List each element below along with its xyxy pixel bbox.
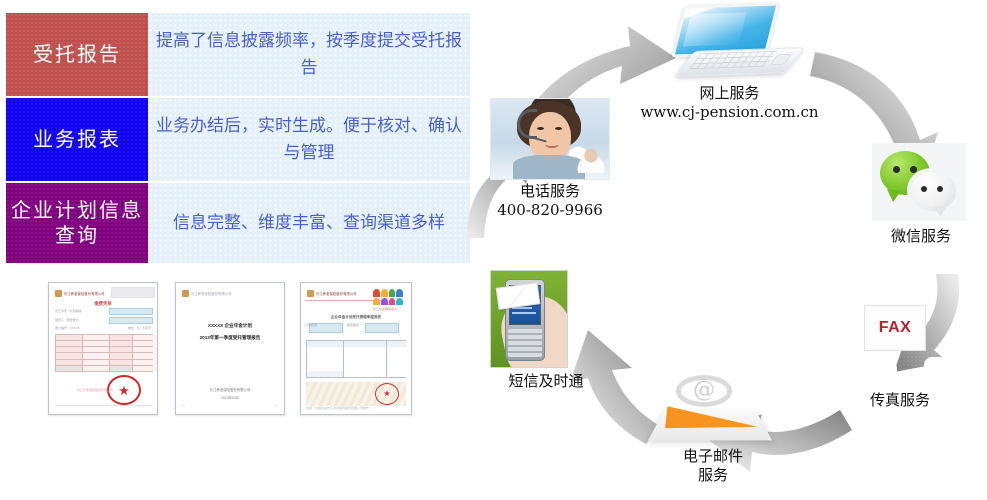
node-fax-service[interactable]: FAX 传真服务 bbox=[848, 305, 968, 405]
node-caption-sms-service: 短信及时通 bbox=[508, 372, 583, 391]
document-header: 长江养老保险股份有限公司 bbox=[182, 289, 278, 298]
agent-smile bbox=[545, 141, 559, 148]
node-caption-phone-service: 电话服务 400-820-9966 bbox=[497, 182, 603, 220]
document-field-box bbox=[109, 317, 153, 324]
wechat-logo-icon bbox=[872, 143, 966, 221]
document-title: 缴费凭单 bbox=[49, 301, 157, 307]
node-online-service[interactable]: 网上服务 www.cj-pension.com.cn bbox=[662, 2, 797, 80]
company-logo-icon bbox=[182, 290, 189, 297]
document-title: 企业年金计划受托管理季度报表 bbox=[301, 315, 411, 320]
wechat-eye-icon bbox=[937, 186, 943, 192]
node-caption-wechat-service: 微信服务 bbox=[891, 227, 951, 246]
company-logo-icon bbox=[55, 290, 62, 297]
official-seal-icon: ★ bbox=[375, 383, 399, 405]
agent-background-person bbox=[577, 145, 605, 173]
feature-label-cell-3: 企业计划信息查询 bbox=[6, 183, 148, 263]
wechat-bubble-white bbox=[910, 171, 956, 211]
node-caption-online-service: 网上服务 www.cj-pension.com.cn bbox=[640, 84, 818, 122]
table-row: 业务报表 业务办结后，实时生成。便于核对、确认与管理 bbox=[6, 98, 470, 181]
fax-handset-icon bbox=[924, 357, 956, 379]
phone-keypad bbox=[508, 329, 542, 357]
node-sms-service[interactable]: 短信及时通 bbox=[490, 270, 610, 395]
document-field-box bbox=[109, 308, 153, 315]
document-company-name: 长江养老保险股份有限公司 bbox=[191, 291, 232, 296]
agent-body bbox=[513, 155, 585, 179]
document-data-table bbox=[306, 340, 406, 378]
node-wechat-service[interactable]: 微信服务 bbox=[866, 143, 976, 247]
feature-label-cell-2: 业务报表 bbox=[6, 98, 148, 181]
document-title-line1: XXXXX 企业年金计划 bbox=[176, 323, 284, 329]
node-phone-service[interactable]: 电话服务 400-820-9966 bbox=[490, 98, 610, 180]
feature-table: 受托报告 提高了信息披露频率，按季度提交受托报告 业务报表 业务办结后，实时生成… bbox=[6, 13, 470, 263]
document-company-name: 长江养老保险股份有限公司 bbox=[64, 291, 105, 296]
fax-label: FAX bbox=[879, 319, 912, 337]
document-footer-line2: 2013年04月 bbox=[176, 395, 284, 400]
table-row: 受托报告 提高了信息披露频率，按季度提交受托报告 bbox=[6, 13, 470, 96]
slide-canvas: 受托报告 提高了信息披露频率，按季度提交受托报告 业务报表 业务办结后，实时生成… bbox=[0, 0, 987, 500]
feature-desc-cell-1: 提高了信息披露频率，按季度提交受托报告 bbox=[148, 13, 470, 96]
document-seal-company: 长江养老保险股份有限公司 bbox=[77, 388, 113, 392]
feature-desc-text-1: 提高了信息披露频率，按季度提交受托报告 bbox=[156, 28, 462, 81]
document-footer-line1: 长江养老保险股份有限公司 bbox=[176, 387, 284, 392]
wechat-eye-icon bbox=[921, 186, 927, 192]
feature-desc-text-2: 业务办结后，实时生成。便于核对、确认与管理 bbox=[156, 113, 462, 166]
mobile-sms-photo bbox=[490, 270, 568, 368]
fax-keypad-icon bbox=[860, 357, 897, 381]
feature-label-cell-1: 受托报告 bbox=[6, 13, 148, 96]
agent-eye-right bbox=[555, 127, 562, 130]
laptop-keyboard-icon bbox=[689, 51, 777, 70]
node-email-service[interactable]: @ 电子邮件 服务 bbox=[648, 375, 778, 490]
document-thumbnail-statement[interactable]: 长江养老保险股份有限公司 长江年金季度报表 企业年金计划受托管理季度报表 计划名… bbox=[300, 282, 412, 415]
table-row: 企业计划信息查询 信息完整、维度丰富、查询渠道多样 bbox=[6, 183, 470, 263]
at-symbol-icon: @ bbox=[676, 375, 732, 407]
feature-label-text-2: 业务报表 bbox=[33, 127, 121, 152]
agent-eye-left bbox=[537, 127, 544, 130]
fax-paper-icon: FAX bbox=[864, 305, 926, 351]
document-thumbnail-report[interactable]: 长江养老保险股份有限公司 XXXXX 企业年金计划 2013年第一季度受托管理报… bbox=[175, 282, 285, 415]
call-center-agent-photo bbox=[490, 98, 610, 180]
node-caption-fax-service: 传真服务 bbox=[870, 391, 930, 410]
colorful-logo-icon bbox=[373, 289, 403, 305]
node-caption-email-service: 电子邮件 服务 bbox=[683, 447, 743, 485]
document-thumbnail-receipt[interactable]: 长江养老保险股份有限公司 缴费凭单 长江养老 / 计划编码 受托人 : 缴费账户… bbox=[48, 282, 158, 415]
document-title-line2: 2013年第一季度受托管理报告 bbox=[176, 335, 284, 341]
feature-desc-cell-3: 信息完整、维度丰富、查询渠道多样 bbox=[148, 183, 470, 263]
feature-label-text-1: 受托报告 bbox=[33, 42, 121, 67]
company-logo-icon bbox=[307, 290, 314, 297]
service-cycle-diagram: 网上服务 www.cj-pension.com.cn 电话服务 400-820-… bbox=[470, 0, 987, 500]
wechat-eye-icon bbox=[893, 166, 900, 173]
feature-label-text-3: 企业计划信息查询 bbox=[6, 198, 148, 248]
wechat-eye-icon bbox=[910, 166, 917, 173]
document-company-name: 长江养老保险股份有限公司 bbox=[316, 291, 357, 296]
document-header-band bbox=[111, 287, 155, 298]
document-data-grid bbox=[55, 334, 153, 372]
feature-desc-cell-2: 业务办结后，实时生成。便于核对、确认与管理 bbox=[148, 98, 470, 181]
feature-desc-text-3: 信息完整、维度丰富、查询渠道多样 bbox=[173, 210, 445, 236]
